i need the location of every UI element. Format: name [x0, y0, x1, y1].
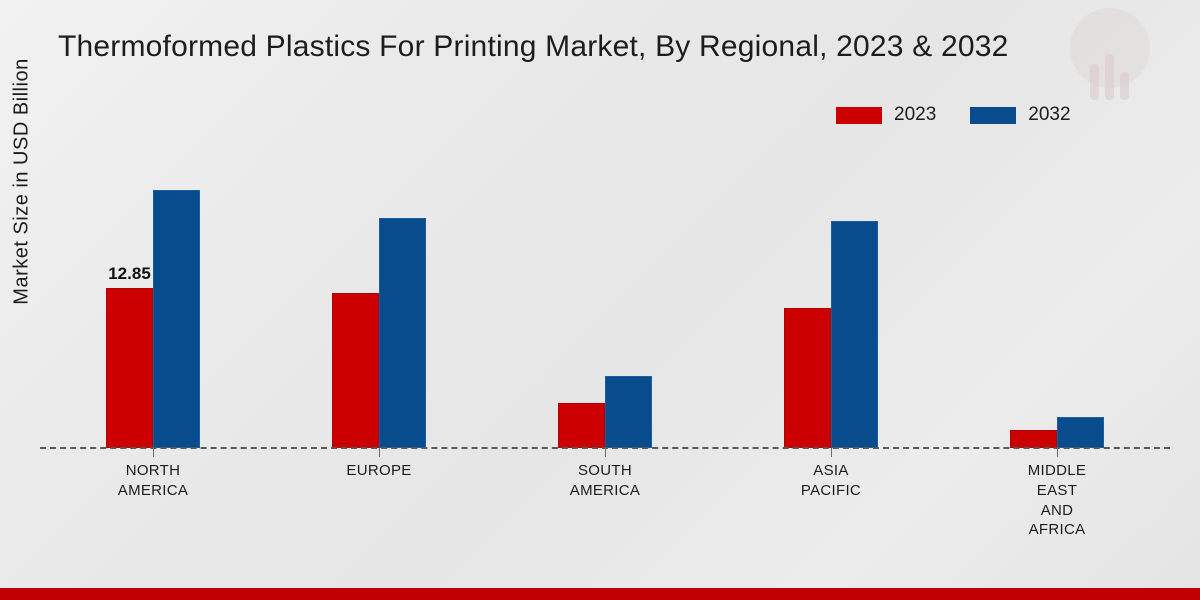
bar-2023[interactable] — [106, 288, 153, 448]
legend-label-2032: 2032 — [1028, 104, 1070, 126]
bar-group — [944, 150, 1170, 448]
x-axis-tick: MIDDLEEASTANDAFRICA — [944, 448, 1170, 568]
bar-pair: 12.85 — [106, 150, 200, 448]
chart-container: Thermoformed Plastics For Printing Marke… — [0, 0, 1200, 600]
bar-2032[interactable] — [831, 221, 878, 448]
bar-group: 12.85 — [40, 150, 266, 448]
bar-2023[interactable] — [332, 293, 379, 448]
x-axis-tick: EUROPE — [266, 448, 492, 568]
tick-label: EUROPE — [346, 461, 411, 481]
x-axis-tick: SOUTHAMERICA — [492, 448, 718, 568]
bar-group — [266, 150, 492, 448]
bar-value-label: 12.85 — [108, 264, 151, 284]
bar-slot: 12.85 — [106, 150, 153, 448]
y-axis-title: Market Size in USD Billion — [11, 17, 34, 347]
tick-mark — [831, 448, 832, 457]
chart-title: Thermoformed Plastics For Printing Marke… — [58, 30, 1009, 64]
legend-item-2032[interactable]: 2032 — [970, 104, 1070, 126]
bar-2032[interactable] — [153, 190, 200, 448]
x-axis-tick: ASIAPACIFIC — [718, 448, 944, 568]
bar-pair — [1010, 150, 1104, 448]
bar-slot — [831, 150, 878, 448]
x-axis-tick-labels: NORTHAMERICAEUROPESOUTHAMERICAASIAPACIFI… — [40, 448, 1170, 568]
bar-slot — [1010, 150, 1057, 448]
bar-group — [492, 150, 718, 448]
bar-group — [718, 150, 944, 448]
tick-mark — [153, 448, 154, 457]
bar-pair — [332, 150, 426, 448]
bar-slot — [605, 150, 652, 448]
x-axis-tick: NORTHAMERICA — [40, 448, 266, 568]
legend-swatch-2032 — [970, 107, 1016, 124]
bar-slot — [153, 150, 200, 448]
bar-pair — [558, 150, 652, 448]
legend-label-2023: 2023 — [894, 104, 936, 126]
bar-pair — [784, 150, 878, 448]
bar-2023[interactable] — [558, 403, 605, 448]
bottom-accent-band — [0, 588, 1200, 600]
bar-2032[interactable] — [1057, 417, 1104, 448]
tick-label: ASIAPACIFIC — [801, 461, 861, 501]
tick-label: SOUTHAMERICA — [570, 461, 640, 501]
watermark-logo — [1064, 4, 1156, 124]
bar-2032[interactable] — [605, 376, 652, 448]
bar-slot — [332, 150, 379, 448]
tick-label: MIDDLEEASTANDAFRICA — [1028, 461, 1086, 540]
tick-label: NORTHAMERICA — [118, 461, 188, 501]
tick-mark — [605, 448, 606, 457]
tick-mark — [379, 448, 380, 457]
bar-2023[interactable] — [784, 308, 831, 448]
bar-slot — [784, 150, 831, 448]
tick-mark — [1057, 448, 1058, 457]
bar-2032[interactable] — [379, 218, 426, 448]
bar-slot — [1057, 150, 1104, 448]
bar-slot — [558, 150, 605, 448]
legend-item-2023[interactable]: 2023 — [836, 104, 936, 126]
bar-groups: 12.85 — [40, 150, 1170, 448]
bar-2023[interactable] — [1010, 430, 1057, 448]
legend-swatch-2023 — [836, 107, 882, 124]
chart-legend: 2023 2032 — [836, 104, 1071, 126]
bar-slot — [379, 150, 426, 448]
